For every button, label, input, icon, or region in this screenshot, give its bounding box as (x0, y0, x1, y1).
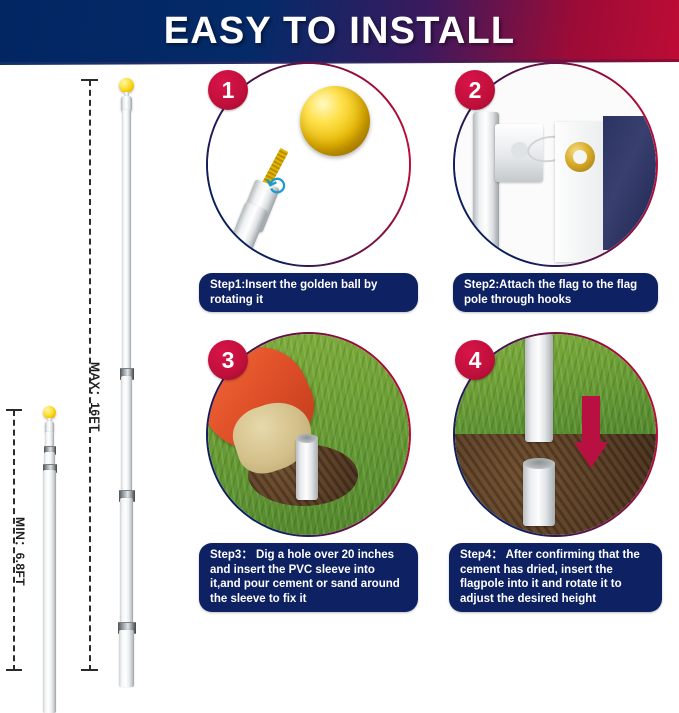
arrow-shaft (582, 396, 600, 444)
pole-shaft-section-4 (119, 630, 134, 687)
ground-sleeve-opening (523, 458, 555, 469)
step-photo-2: 2 (453, 62, 658, 267)
infographic-page: EASY TO INSTALL MAX：16FT (0, 0, 679, 671)
flagpole-lower-shaft (525, 334, 553, 442)
step-caption-1: Step1:Insert the golden ball by rotating… (199, 273, 418, 312)
pole-shaft-top (224, 202, 268, 265)
step-caption-3: Step3： Dig a hole over 20 inches and ins… (199, 543, 418, 612)
gold-ball-finial (119, 78, 134, 93)
pole-shaft-section-1 (122, 110, 131, 372)
step-number-badge: 2 (455, 70, 495, 110)
gold-ball (300, 86, 370, 156)
step-number-badge: 4 (455, 340, 495, 380)
step-photo-4: 4 (453, 332, 658, 537)
page-title: EASY TO INSTALL (0, 0, 679, 62)
min-dimension-cap-top (6, 409, 22, 411)
max-dimension-cap-top (81, 79, 98, 81)
step-caption-2: Step2:Attach the flag to the flag pole t… (453, 273, 658, 312)
ground-sleeve (523, 462, 555, 526)
header-banner: EASY TO INSTALL (0, 0, 679, 62)
max-height-label: MAX：16FT (87, 362, 104, 432)
bracket-hole (511, 142, 528, 159)
step-photo-1: ⟲ 1 (206, 62, 411, 267)
step-number-badge: 1 (208, 70, 248, 110)
soil-ground (455, 434, 656, 535)
rotation-arrow-icon: ⟲ (261, 169, 290, 200)
step-caption-4: Step4： After confirming that the cement … (449, 543, 662, 612)
grommet-hole (573, 150, 587, 164)
pvc-sleeve-opening (296, 434, 318, 443)
min-height-label: MIN：6.8FT (12, 517, 29, 586)
pole-shaft-section-2 (121, 376, 132, 494)
flag-body (603, 116, 656, 250)
step-number-badge: 3 (208, 340, 248, 380)
pole-comparison-column: MAX：16FT MIN：6.8FT (0, 62, 185, 671)
pole-shaft-collapsed-3 (43, 470, 56, 713)
step-card-1: ⟲ 1 Step1:Insert the golden ball by rota… (190, 62, 427, 312)
step-card-4: 4 Step4： After confirming that the cemen… (437, 332, 674, 612)
pole-shaft-section-3 (120, 498, 133, 626)
insert-direction-arrow (573, 396, 613, 468)
pvc-sleeve (296, 438, 318, 500)
step-card-2: 2 Step2:Attach the flag to the flag pole… (437, 62, 674, 312)
step-photo-3: 3 (206, 332, 411, 537)
step-card-3: 3 Step3： Dig a hole over 20 inches and i… (190, 332, 427, 612)
arrow-head (574, 442, 608, 468)
